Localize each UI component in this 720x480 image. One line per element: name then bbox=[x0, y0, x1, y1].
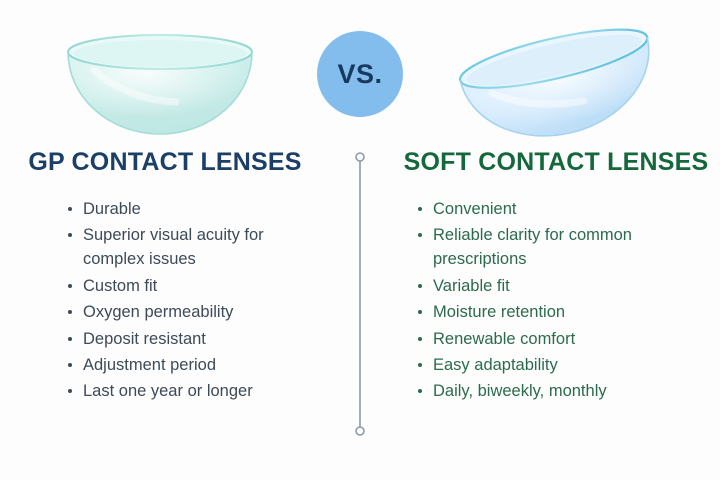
vs-badge: VS. bbox=[317, 31, 403, 117]
bullet-icon bbox=[418, 233, 422, 237]
bullet-icon bbox=[418, 284, 422, 288]
list-item-label: Adjustment period bbox=[83, 356, 216, 374]
list-item: Durable bbox=[66, 198, 320, 222]
gp-lens-column: GP CONTACT LENSES Durable Superior visua… bbox=[10, 148, 320, 407]
list-item-label: Deposit resistant bbox=[83, 330, 206, 348]
list-item: Variable fit bbox=[416, 275, 712, 299]
bullet-icon bbox=[68, 389, 72, 393]
lens-comparison-infographic: VS. bbox=[0, 0, 720, 480]
list-item: Renewable comfort bbox=[416, 328, 712, 352]
list-item: Superior visual acuity for complex issue… bbox=[66, 224, 320, 272]
bullet-icon bbox=[68, 363, 72, 367]
list-item-label: Last one year or longer bbox=[83, 382, 253, 400]
bullet-icon bbox=[418, 310, 422, 314]
list-item-label: Convenient bbox=[433, 200, 516, 218]
list-item-label: Easy adaptability bbox=[433, 356, 558, 374]
bullet-icon bbox=[68, 284, 72, 288]
bullet-icon bbox=[418, 337, 422, 341]
list-item: Convenient bbox=[416, 198, 712, 222]
bullet-icon bbox=[418, 363, 422, 367]
bullet-icon bbox=[68, 207, 72, 211]
list-item: Oxygen permeability bbox=[66, 301, 320, 325]
list-item-label: Superior visual acuity for complex issue… bbox=[83, 226, 264, 268]
list-item-label: Daily, biweekly, monthly bbox=[433, 382, 607, 400]
list-item-label: Reliable clarity for common prescription… bbox=[433, 226, 632, 268]
list-item-label: Durable bbox=[83, 200, 141, 218]
list-item-label: Oxygen permeability bbox=[83, 303, 233, 321]
list-item: Last one year or longer bbox=[66, 380, 320, 404]
bullet-icon bbox=[68, 337, 72, 341]
list-item-label: Custom fit bbox=[83, 277, 157, 295]
list-item-label: Moisture retention bbox=[433, 303, 565, 321]
gp-column-heading: GP CONTACT LENSES bbox=[10, 148, 320, 176]
list-item: Reliable clarity for common prescription… bbox=[416, 224, 712, 272]
bullet-icon bbox=[68, 310, 72, 314]
list-item-label: Variable fit bbox=[433, 277, 510, 295]
soft-contact-lens-illustration bbox=[452, 28, 668, 144]
bullet-icon bbox=[418, 389, 422, 393]
soft-feature-list: Convenient Reliable clarity for common p… bbox=[400, 198, 712, 404]
list-item: Easy adaptability bbox=[416, 354, 712, 378]
list-item-label: Renewable comfort bbox=[433, 330, 575, 348]
list-item: Adjustment period bbox=[66, 354, 320, 378]
soft-column-heading: SOFT CONTACT LENSES bbox=[400, 148, 712, 176]
gp-feature-list: Durable Superior visual acuity for compl… bbox=[10, 198, 320, 404]
gp-contact-lens-illustration bbox=[58, 28, 262, 140]
vs-badge-label: VS. bbox=[337, 61, 382, 88]
vertical-divider-icon bbox=[352, 152, 368, 436]
list-item: Custom fit bbox=[66, 275, 320, 299]
list-item: Moisture retention bbox=[416, 301, 712, 325]
bullet-icon bbox=[418, 207, 422, 211]
soft-lens-column: SOFT CONTACT LENSES Convenient Reliable … bbox=[400, 148, 712, 407]
list-item: Daily, biweekly, monthly bbox=[416, 380, 712, 404]
list-item: Deposit resistant bbox=[66, 328, 320, 352]
bullet-icon bbox=[68, 233, 72, 237]
